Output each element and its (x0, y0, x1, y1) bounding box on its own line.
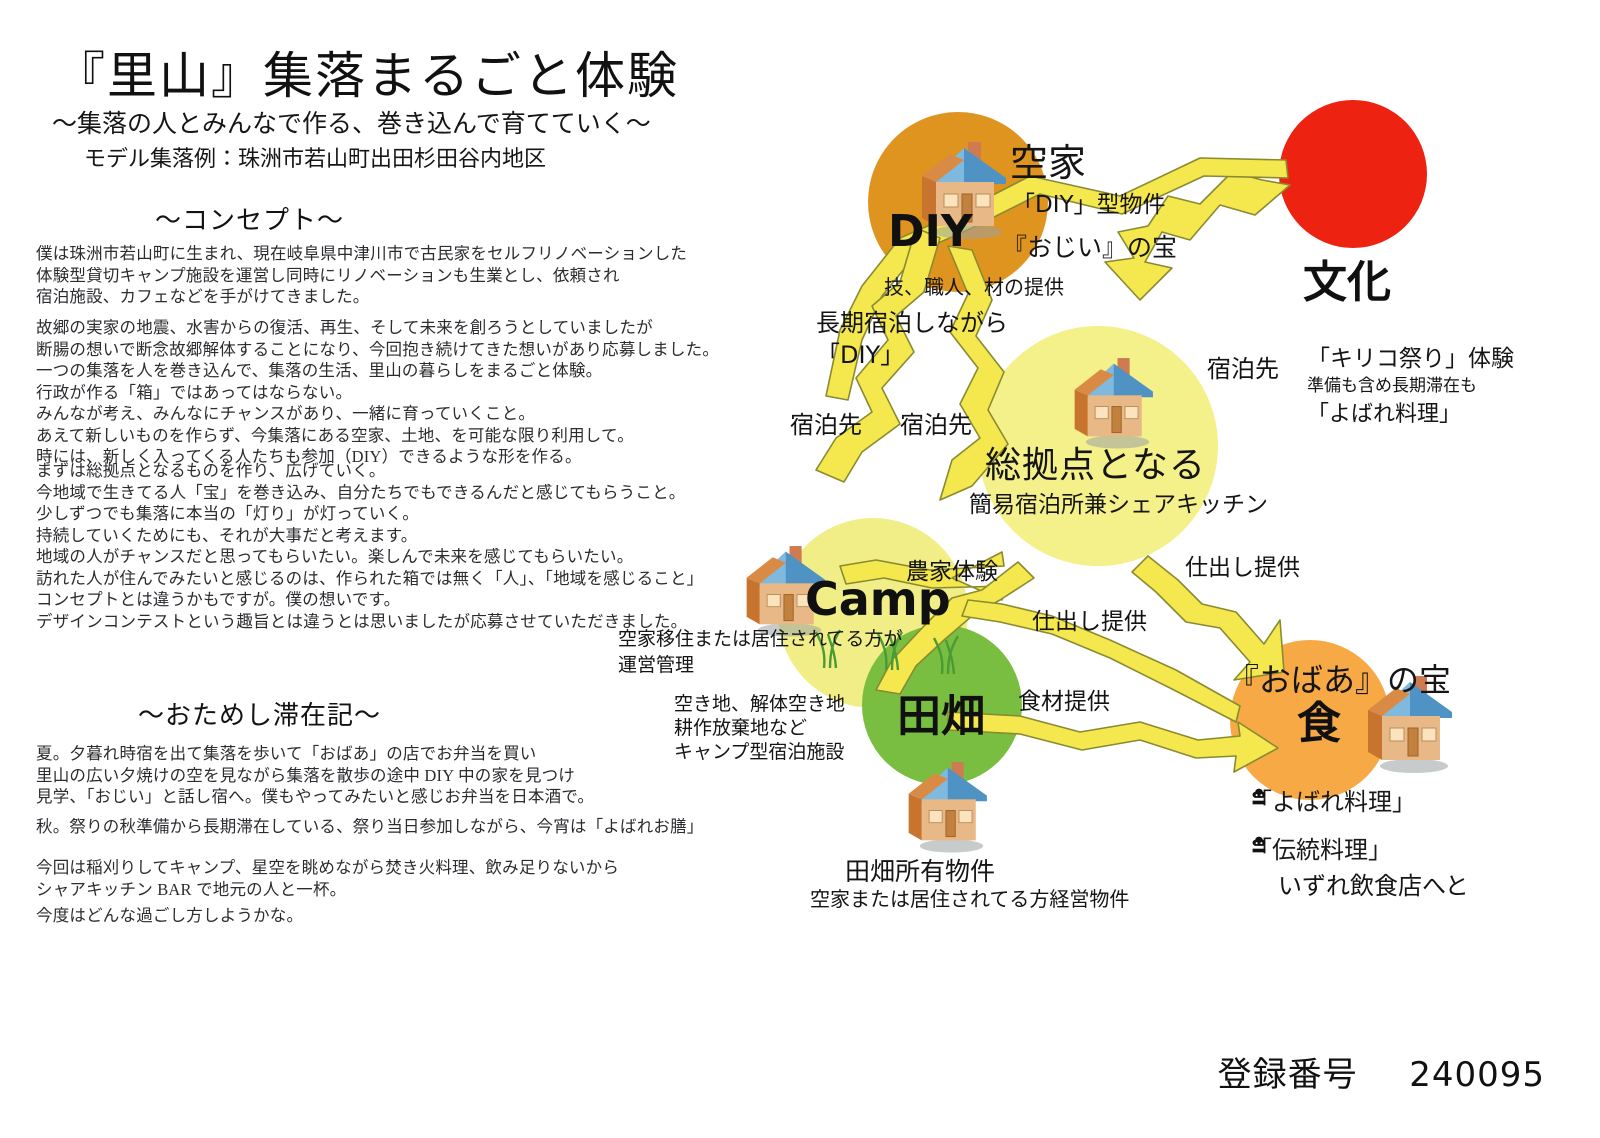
node-culture-line2: 準備も含め長期滞在も (1307, 371, 1477, 396)
stay-diary-summer: 夏。夕暮れ時宿を出て集落を歩いて「おばあ」の店でお弁当を買い 里山の広い夕焼けの… (36, 743, 594, 808)
registration-footer: 登録番号 240095 (1218, 1047, 1545, 1096)
concept-paragraph-1: 僕は珠洲市若山町に生まれ、現在岐阜県中津川市で古民家をセルフリノベーションした … (36, 243, 687, 308)
arrow-label-long-stay-diy: 長期宿泊しながら 「DIY」 (816, 307, 1008, 371)
node-field-caption-sub: 空家または居住されてる方経営物件 (810, 883, 1129, 912)
arrow-label-catering-upper: 仕出し提供 (1185, 548, 1300, 582)
node-culture-label: 文化 (1303, 246, 1391, 310)
poster-page: 『里山』集落まるごと体験 〜集落の人とみんなで作る、巻き込んで育てていく〜 モデ… (0, 0, 1600, 1138)
arrow-label-lodging-culture: 宿泊先 (1207, 349, 1279, 384)
node-camp-note2: 空き地、解体空き地 耕作放棄地など キャンプ型宿泊施設 (674, 692, 845, 764)
registration-number: 240095 (1409, 1055, 1545, 1095)
arrow-label-farm-experience: 農家体験 (906, 552, 998, 586)
node-diy-line3: 技、職人、材の提供 (884, 271, 1064, 300)
node-diy-label: DIY (888, 206, 973, 257)
node-culture-line1: 「キリコ祭り」体験 (1307, 339, 1514, 373)
chef-icon (1248, 786, 1270, 808)
house-icon-field (890, 752, 1000, 856)
arrow-label-ingredients: 食材提供 (1018, 682, 1110, 716)
grandma-bullet-1: 「よばれ料理」 (1248, 782, 1416, 817)
node-camp-note1: 空家移住または居住されてる方が 運営管理 (618, 626, 902, 678)
model-village-line: モデル集落例：珠洲市若山町出田杉田谷内地区 (84, 141, 546, 173)
stay-diary-heading: 〜おためし滞在記〜 (138, 695, 381, 732)
node-diy-line2: 『おじい』の宝 (1002, 228, 1177, 264)
arrow-label-lodging-left: 宿泊先 (790, 405, 862, 440)
grandma-bullet-2: 「伝統料理」 (1248, 830, 1392, 865)
node-diy-line1: 「DIY」型物件 (1012, 185, 1166, 219)
arrow-label-catering-lower: 仕出し提供 (1032, 602, 1147, 636)
node-hub-subtitle: 簡易宿泊所兼シェアキッチン (969, 485, 1268, 519)
grandma-bullet-1-label: 「よばれ料理」 (1248, 782, 1416, 817)
grandma-bullet-2-sub: いずれ飲食店へと (1278, 866, 1469, 901)
node-diy-heading: 空家 (1010, 132, 1086, 187)
stay-diary-next-time: 今度はどんな過ごし方しようかな。 (36, 905, 303, 927)
concept-heading: 〜コンセプト〜 (155, 200, 344, 237)
node-grandma-label: 食 (1297, 687, 1341, 751)
page-title: 『里山』集落まるごと体験 (55, 36, 679, 108)
registration-label: 登録番号 (1218, 1055, 1358, 1095)
node-hub-title: 総拠点となる (985, 436, 1206, 488)
chef-icon (1248, 834, 1270, 856)
arrow-label-lodging-mid: 宿泊先 (900, 405, 972, 440)
node-field-label: 田畑 (897, 680, 985, 744)
node-culture-line3: 「よばれ料理」 (1307, 396, 1461, 428)
stay-diary-this-time: 今回は稲刈りしてキャンプ、星空を眺めながら焚き火料理、飲み足りないから シャアキ… (36, 857, 619, 900)
page-subtitle: 〜集落の人とみんなで作る、巻き込んで育てていく〜 (52, 104, 651, 140)
relationship-diagram: DIY 空家 「DIY」型物件 『おじい』の宝 技、職人、材の提供 文化 「キリ… (600, 0, 1600, 1000)
